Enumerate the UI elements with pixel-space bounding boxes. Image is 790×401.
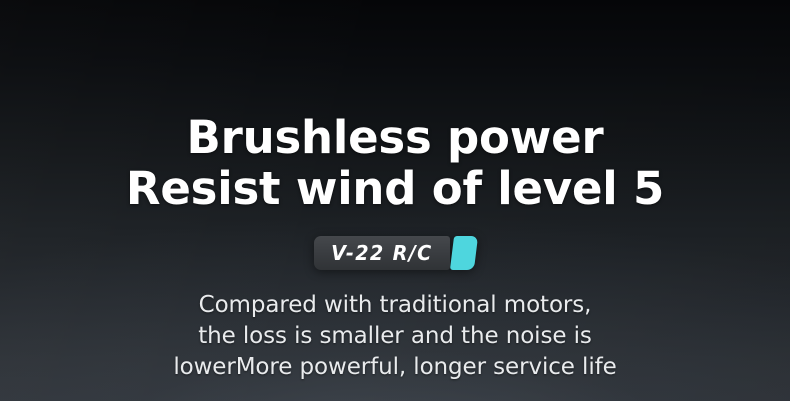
page-title: Brushless power Resist wind of level 5 [126,112,664,214]
description-line-1: Compared with traditional motors, [173,290,616,321]
headline-line-1: Brushless power [126,112,664,163]
headline-line-2: Resist wind of level 5 [126,163,664,214]
banner-description: Compared with traditional motors, the lo… [173,290,616,383]
model-badge: V-22 R/C [314,236,477,270]
model-badge-plate: V-22 R/C [314,236,451,270]
model-badge-accent-bar [450,236,478,270]
banner-content: Brushless power Resist wind of level 5 V… [0,0,790,401]
description-line-2: the loss is smaller and the noise is [173,321,616,352]
product-hero-banner: Brushless power Resist wind of level 5 V… [0,0,790,401]
model-badge-label: V-22 R/C [331,241,432,265]
description-line-3: lowerMore powerful, longer service life [173,352,616,383]
